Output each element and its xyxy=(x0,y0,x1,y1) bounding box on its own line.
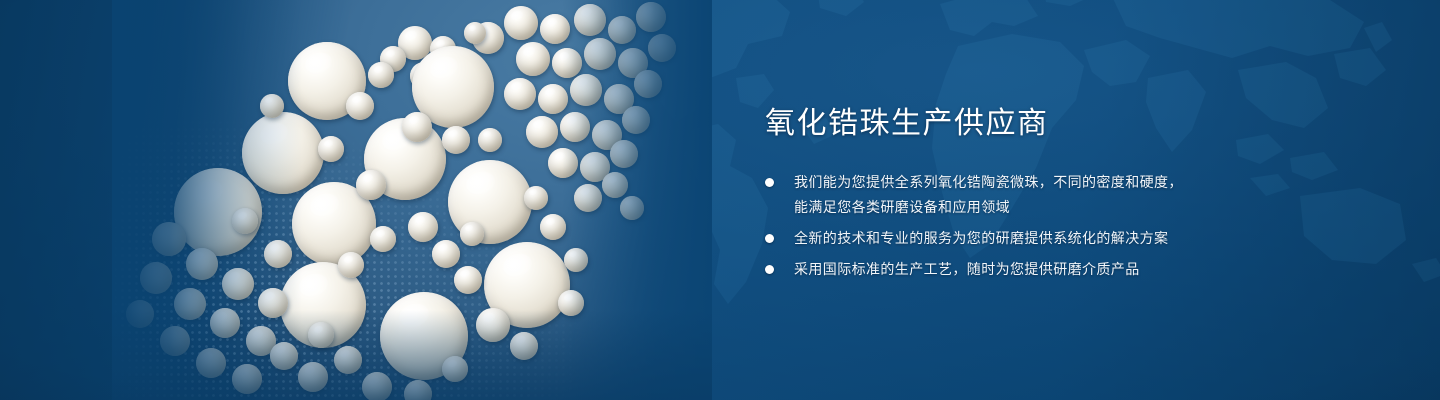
feature-list: 我们能为您提供全系列氧化锆陶瓷微珠，不同的密度和硬度， 能满足您各类研磨设备和应… xyxy=(765,170,1235,282)
feature-text-line: 全新的技术和专业的服务为您的研磨提供系统化的解决方案 xyxy=(794,226,1235,251)
bullet-dot-icon xyxy=(765,178,774,187)
bullet-dot-icon xyxy=(765,234,774,243)
feature-text-line: 我们能为您提供全系列氧化锆陶瓷微珠，不同的密度和硬度， xyxy=(794,170,1235,195)
feature-list-item: 我们能为您提供全系列氧化锆陶瓷微珠，不同的密度和硬度， 能满足您各类研磨设备和应… xyxy=(765,170,1235,220)
banner-headline: 氧化锆珠生产供应商 xyxy=(765,104,1235,144)
hero-banner: 氧化锆珠生产供应商 我们能为您提供全系列氧化锆陶瓷微珠，不同的密度和硬度， 能满… xyxy=(0,0,1440,400)
bullet-dot-icon xyxy=(765,265,774,274)
banner-copy: 氧化锆珠生产供应商 我们能为您提供全系列氧化锆陶瓷微珠，不同的密度和硬度， 能满… xyxy=(765,104,1235,282)
feature-text-line: 能满足您各类研磨设备和应用领域 xyxy=(794,195,1235,220)
feature-text-line: 采用国际标准的生产工艺，随时为您提供研磨介质产品 xyxy=(794,257,1235,282)
feature-list-item: 采用国际标准的生产工艺，随时为您提供研磨介质产品 xyxy=(765,257,1235,282)
feature-list-item: 全新的技术和专业的服务为您的研磨提供系统化的解决方案 xyxy=(765,226,1235,251)
